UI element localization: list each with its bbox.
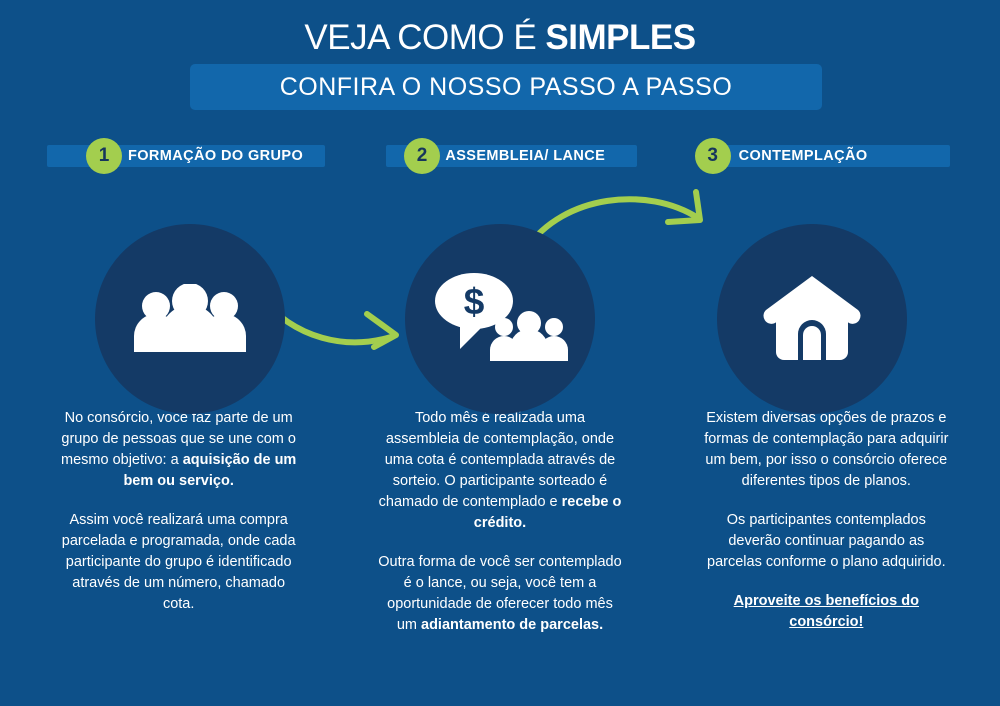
- step-column-2: 2 ASSEMBLEIA/ LANCE $: [333, 138, 666, 636]
- paragraph: Existem diversas opções de prazos e form…: [703, 408, 950, 492]
- step-label-2: ASSEMBLEIA/ LANCE: [445, 147, 605, 165]
- steps-container: 1 FORMAÇÃO DO GRUPO: [0, 138, 1000, 636]
- step-label-3: CONTEMPLAÇÃO: [739, 147, 868, 165]
- step-label-1: FORMAÇÃO DO GRUPO: [128, 147, 303, 165]
- step-header-3: 3 CONTEMPLAÇÃO: [667, 138, 1000, 174]
- step-header-1: 1 FORMAÇÃO DO GRUPO: [0, 138, 333, 174]
- text-run: Assim você realizará uma compra parcelad…: [62, 512, 296, 612]
- step-icon-zone-2: $: [333, 174, 666, 380]
- paragraph: Outra forma de você ser contemplado é o …: [377, 552, 622, 636]
- step-icon-circle-3: [717, 224, 907, 414]
- page-title-light: VEJA COMO É: [304, 18, 545, 57]
- step-column-1: 1 FORMAÇÃO DO GRUPO: [0, 138, 333, 636]
- dollar-speech-bubble-with-group-icon: $: [430, 269, 570, 369]
- step-body-1: No consórcio, você faz parte de um grupo…: [0, 380, 333, 615]
- page-title: VEJA COMO É SIMPLES: [0, 18, 1000, 58]
- paragraph: No consórcio, você faz parte de um grupo…: [56, 408, 301, 492]
- text-run: Existem diversas opções de prazos e form…: [704, 410, 948, 489]
- paragraph: Aproveite os benefícios do consórcio!: [703, 591, 950, 633]
- step-number-badge-1: 1: [86, 138, 122, 174]
- step-column-3: 3 CONTEMPLAÇÃO Ex: [667, 138, 1000, 636]
- subtitle-banner-label: CONFIRA O NOSSO PASSO A PASSO: [280, 73, 733, 101]
- step-number-badge-3: 3: [695, 138, 731, 174]
- group-of-people-icon: [130, 284, 250, 354]
- paragraph: Assim você realizará uma compra parcelad…: [56, 510, 301, 615]
- step-body-3: Existem diversas opções de prazos e form…: [667, 380, 1000, 633]
- infographic-root: VEJA COMO É SIMPLES CONFIRA O NOSSO PASS…: [0, 0, 1000, 706]
- step-icon-circle-2: $: [405, 224, 595, 414]
- paragraph: Todo mês é realizada uma assembleia de c…: [377, 408, 622, 534]
- step-number-badge-2: 2: [404, 138, 440, 174]
- paragraph: Os participantes contemplados deverão co…: [703, 510, 950, 573]
- small-group-icon: [490, 311, 568, 361]
- svg-text:$: $: [464, 281, 485, 322]
- step-icon-circle-1: [95, 224, 285, 414]
- house-icon: [760, 272, 864, 366]
- step-icon-zone-3: [667, 174, 1000, 380]
- page-title-bold: SIMPLES: [545, 18, 695, 57]
- text-run: Os participantes contemplados deverão co…: [707, 512, 946, 570]
- call-to-action-text: Aproveite os benefícios do consórcio!: [734, 593, 919, 630]
- step-header-2: 2 ASSEMBLEIA/ LANCE: [333, 138, 666, 174]
- step-body-2: Todo mês é realizada uma assembleia de c…: [333, 380, 666, 636]
- text-run-bold: adiantamento de parcelas.: [421, 617, 603, 633]
- subtitle-banner: CONFIRA O NOSSO PASSO A PASSO: [190, 64, 822, 110]
- step-icon-zone-1: [0, 174, 333, 380]
